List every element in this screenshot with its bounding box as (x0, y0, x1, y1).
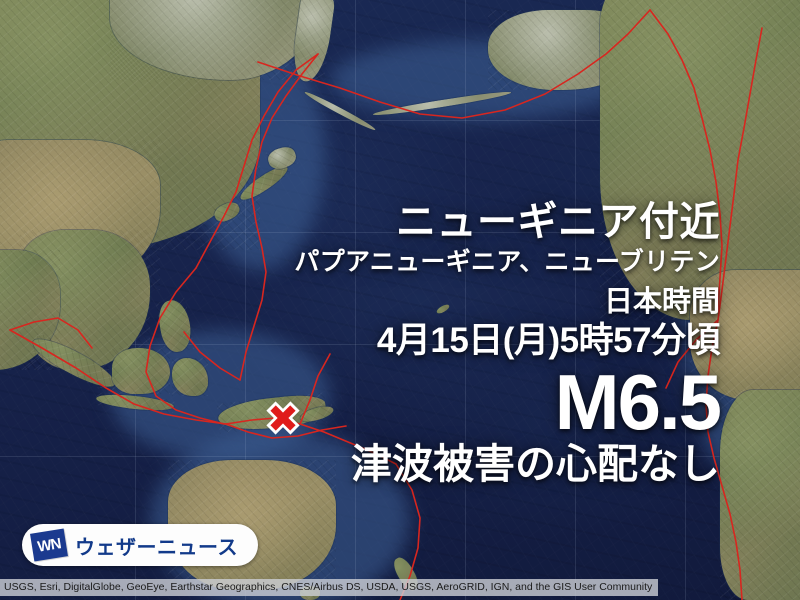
wn-mark-text: WN (36, 535, 61, 555)
x-mark-icon (260, 395, 306, 441)
map-attribution-bar: USGS, Esri, DigitalGlobe, GeoEye, Earths… (0, 579, 658, 596)
weathernews-logo: WN ウェザーニュース (22, 524, 258, 566)
epicenter-marker (260, 395, 306, 441)
brand-name-label: ウェザーニュース (75, 531, 238, 560)
wn-mark-icon: WN (30, 529, 68, 562)
attribution-text: USGS, Esri, DigitalGlobe, GeoEye, Earths… (4, 579, 652, 596)
earthquake-report-graphic: ニューギニア付近 パプアニューギニア、ニューブリテン 日本時間 4月15日(月)… (0, 0, 800, 600)
plate-boundary-lines (0, 0, 800, 600)
